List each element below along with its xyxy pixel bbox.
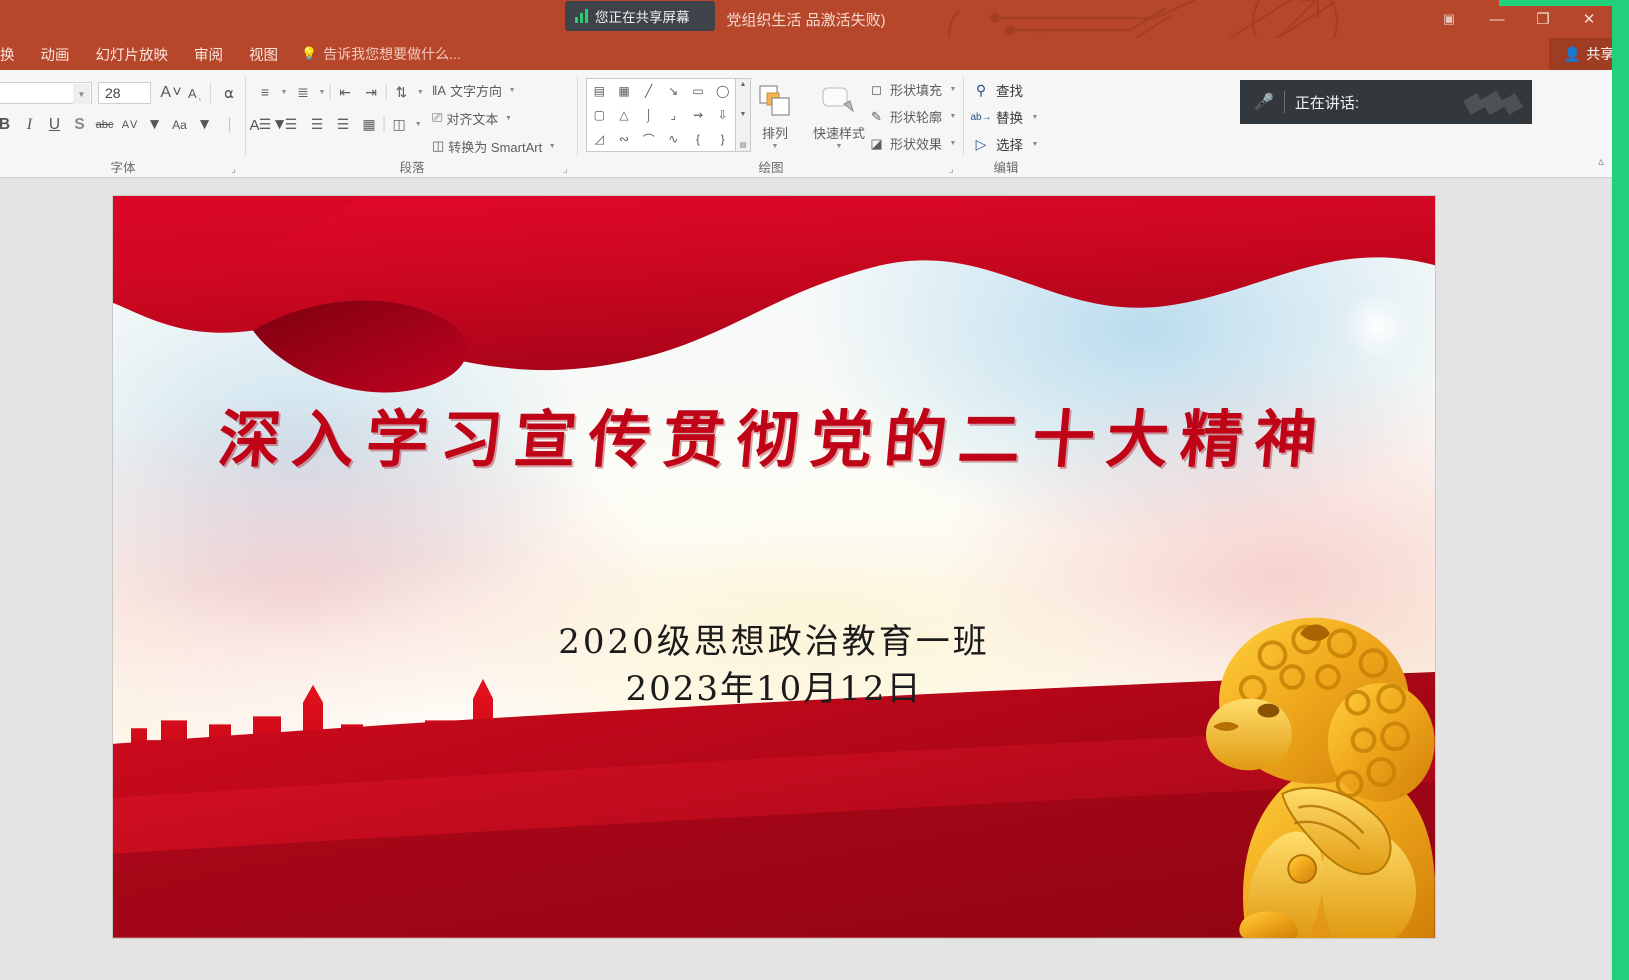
shape-rectangle-icon[interactable]: ▭ <box>686 79 711 103</box>
screen-share-border <box>1612 0 1629 980</box>
scroll-down-icon[interactable]: ▼ <box>740 111 747 118</box>
speaking-decoration <box>1464 88 1524 116</box>
paragraph-dialog-launcher[interactable]: ⌟ <box>563 164 574 175</box>
line-spacing-icon[interactable]: ⇅ <box>388 80 414 104</box>
align-text-label: 对齐文本 <box>446 109 498 128</box>
chevron-down-icon[interactable]: ▼ <box>772 143 779 150</box>
paragraph-row-1: ≡ ▼ ≣ ▼ | ⇤ ⇥ | ⇅ ▼ <box>252 80 426 104</box>
font-dialog-launcher[interactable]: ⌟ <box>231 164 242 175</box>
ribbon-group-editing: ⚲ 查找 ab→ 替换 ▼ ▷ 选择 ▼ 编辑 <box>964 70 1048 178</box>
chevron-down-icon[interactable]: ▼ <box>278 89 290 96</box>
collapse-ribbon-icon[interactable]: ▵ <box>1598 154 1604 168</box>
text-direction-button[interactable]: ‖A 文字方向 ▼ <box>432 78 518 102</box>
arrange-icon <box>758 80 792 122</box>
paragraph-row-2: ☰ ☰ ☰ ☰ ▦ | ◫ ▼ <box>252 112 424 136</box>
title-bar: 党组织生活 品激活失败) 您正在共享屏幕 ▣ — ❐ ✕ <box>0 0 1612 38</box>
shape-left-brace-icon[interactable]: { <box>686 127 711 151</box>
shrink-font-icon[interactable]: A ˌ <box>183 82 207 104</box>
ribbon-group-drawing: ▤ ▦ ╱ ↘ ▭ ◯ ▢ △ ⌡ ⌟ ⇝ ⇩ ◿ ∾ ⌒ ∿ { } ▲ <box>578 70 964 178</box>
shape-arrow-icon[interactable]: ↘ <box>661 79 686 103</box>
shape-freeform-icon[interactable]: ◿ <box>587 127 612 151</box>
character-spacing-button[interactable]: A V <box>117 113 142 137</box>
chevron-down-icon[interactable]: ▼ <box>546 143 558 150</box>
chevron-down-icon[interactable]: ▼ <box>142 113 167 137</box>
columns-icon[interactable]: ◫ <box>386 112 412 136</box>
change-case-button[interactable]: Aa <box>167 113 192 137</box>
tab-transitions[interactable]: 换 <box>0 38 28 70</box>
shape-curve-icon[interactable]: ∿ <box>661 127 686 151</box>
chevron-down-icon[interactable]: ▼ <box>192 113 217 137</box>
text-direction-label: 文字方向 <box>450 81 502 100</box>
select-button[interactable]: ▷ 选择 ▼ <box>972 134 1041 154</box>
chevron-down-icon[interactable]: ▼ <box>506 87 518 94</box>
share-button-label: 共享 <box>1586 44 1614 64</box>
chevron-down-icon[interactable]: ▼ <box>1029 141 1041 148</box>
font-name-input[interactable]: ▼ <box>0 82 92 104</box>
grow-font-icon[interactable]: A ˅ <box>159 82 183 104</box>
decrease-indent-icon[interactable]: ⇤ <box>332 80 358 104</box>
increase-indent-icon[interactable]: ⇥ <box>358 80 384 104</box>
shape-line-icon[interactable]: ╱ <box>636 79 661 103</box>
shape-vertical-textbox-icon[interactable]: ▦ <box>612 79 637 103</box>
shape-fill-button[interactable]: ◻ 形状填充 ▼ <box>868 80 959 99</box>
shapes-gallery[interactable]: ▤ ▦ ╱ ↘ ▭ ◯ ▢ △ ⌡ ⌟ ⇝ ⇩ ◿ ∾ ⌒ ∿ { } <box>586 78 736 152</box>
ribbon-group-drawing-label: 绘图 <box>578 157 964 176</box>
chevron-down-icon[interactable]: ▼ <box>836 143 843 150</box>
shape-triangle-icon[interactable]: △ <box>612 103 637 127</box>
shape-right-brace-icon[interactable]: } <box>710 127 735 151</box>
shape-outline-label: 形状轮廓 <box>890 107 942 126</box>
clear-formatting-icon[interactable]: ⍺ <box>217 82 241 104</box>
shape-rounded-rect-icon[interactable]: ▢ <box>587 103 612 127</box>
quick-styles-button[interactable]: 快速样式 ▼ <box>813 80 865 150</box>
slide-workspace: 深入学习宣传贯彻党的二十大精神 2020级思想政治教育一班 2023年10月12… <box>0 178 1612 980</box>
shape-textbox-icon[interactable]: ▤ <box>587 79 612 103</box>
tab-view[interactable]: 视图 <box>236 38 291 70</box>
replace-label: 替换 <box>996 107 1023 127</box>
font-size-input[interactable]: 28 <box>98 82 151 104</box>
shape-scribble-icon[interactable]: ∾ <box>612 127 637 151</box>
slide-canvas[interactable]: 深入学习宣传贯彻党的二十大精神 2020级思想政治教育一班 2023年10月12… <box>113 196 1435 938</box>
shape-fill-icon: ◻ <box>868 81 885 98</box>
chevron-down-icon[interactable]: ▼ <box>412 121 424 128</box>
screen-share-label: 您正在共享屏幕 <box>595 6 690 26</box>
powerpoint-window: 党组织生活 品激活失败) 您正在共享屏幕 ▣ — ❐ ✕ 换 动画 幻灯片放映 … <box>0 0 1629 980</box>
chevron-down-icon[interactable]: ▼ <box>947 140 959 147</box>
align-center-icon[interactable]: ☰ <box>278 112 304 136</box>
signal-bars-icon <box>575 10 588 23</box>
chevron-down-icon[interactable]: ▼ <box>502 115 514 122</box>
tell-me-search[interactable]: 💡 告诉我您想要做什么... <box>301 44 461 64</box>
arrange-button[interactable]: 排列 ▼ <box>758 80 792 150</box>
align-left-icon[interactable]: ☰ <box>252 112 278 136</box>
tab-animations[interactable]: 动画 <box>28 38 83 70</box>
window-title: 党组织生活 品激活失败) <box>0 0 1612 38</box>
divider <box>210 82 211 104</box>
screen-share-banner: 您正在共享屏幕 <box>565 1 715 31</box>
strikethrough-button[interactable]: abc <box>92 113 117 137</box>
slide-subtitle-text[interactable]: 2020级思想政治教育一班 2023年10月12日 <box>113 619 1435 713</box>
shapes-gallery-scroll[interactable]: ▲ ▼ ▤ <box>736 78 751 152</box>
smartart-icon: ◫ <box>432 138 444 154</box>
more-shapes-icon[interactable]: ▤ <box>740 141 747 149</box>
chevron-down-icon[interactable]: ▼ <box>947 86 959 93</box>
align-text-button[interactable]: ⎚ 对齐文本 ▼ <box>432 106 514 130</box>
find-label: 查找 <box>996 80 1023 100</box>
speaking-overlay: 🎤 正在讲话: <box>1240 80 1532 124</box>
chevron-down-icon[interactable]: ▼ <box>316 89 328 96</box>
align-text-icon: ⎚ <box>432 110 442 126</box>
slide-subtitle-line1: 2020级思想政治教育一班 <box>113 619 1435 666</box>
shape-right-arrow-icon[interactable]: ⇝ <box>686 103 711 127</box>
arrange-label: 排列 <box>762 123 788 142</box>
divider <box>1284 91 1285 113</box>
convert-smartart-label: 转换为 SmartArt <box>448 137 542 156</box>
shape-outline-icon: ✎ <box>868 108 885 125</box>
ribbon-group-font-label: 字体 <box>0 157 246 176</box>
select-label: 选择 <box>996 134 1023 154</box>
tell-me-placeholder: 告诉我您想要做什么... <box>323 44 461 64</box>
shape-effects-label: 形状效果 <box>890 134 942 153</box>
lightbulb-icon: 💡 <box>301 46 317 62</box>
distribute-icon[interactable]: ▦ <box>356 112 382 136</box>
underline-button[interactable]: U <box>42 113 67 137</box>
cursor-select-icon: ▷ <box>972 136 990 153</box>
ribbon-group-font: ▼ 28 A ˅ A ˌ ⍺ B I U S abc A V ▼ Aa ▼ | … <box>0 70 246 178</box>
person-add-icon: 👤 <box>1564 46 1581 63</box>
italic-button[interactable]: I <box>17 113 42 137</box>
chevron-down-icon[interactable]: ▼ <box>414 89 426 96</box>
replace-icon: ab→ <box>972 112 990 123</box>
shape-down-arrow-icon[interactable]: ⇩ <box>710 103 735 127</box>
shape-elbow-connector-icon[interactable]: ⌡ <box>636 103 661 127</box>
quick-styles-icon <box>820 80 858 122</box>
justify-icon[interactable]: ☰ <box>330 112 356 136</box>
slide-subtitle-line2: 2023年10月12日 <box>113 666 1435 713</box>
search-icon: ⚲ <box>972 82 990 99</box>
speaking-label: 正在讲话: <box>1295 92 1359 113</box>
shape-effects-button[interactable]: ◪ 形状效果 ▼ <box>868 134 959 153</box>
numbering-icon[interactable]: ≣ <box>290 80 316 104</box>
shape-elbow-arrow-icon[interactable]: ⌟ <box>661 103 686 127</box>
shape-fill-label: 形状填充 <box>890 80 942 99</box>
replace-button[interactable]: ab→ 替换 ▼ <box>972 107 1041 127</box>
tab-slideshow[interactable]: 幻灯片放映 <box>83 38 182 70</box>
shape-outline-button[interactable]: ✎ 形状轮廓 ▼ <box>868 107 959 126</box>
text-shadow-button[interactable]: S <box>67 113 92 137</box>
ribbon-group-paragraph-label: 段落 <box>246 157 578 176</box>
drawing-dialog-launcher[interactable]: ⌟ <box>949 164 960 175</box>
chevron-down-icon[interactable]: ▼ <box>73 84 90 104</box>
ribbon-group-paragraph: ≡ ▼ ≣ ▼ | ⇤ ⇥ | ⇅ ▼ ☰ ☰ ☰ ☰ ▦ | ◫ ▼ <box>246 70 578 178</box>
chevron-down-icon[interactable]: ▼ <box>947 113 959 120</box>
align-right-icon[interactable]: ☰ <box>304 112 330 136</box>
scroll-up-icon[interactable]: ▲ <box>740 81 747 88</box>
chevron-down-icon[interactable]: ▼ <box>1029 114 1041 121</box>
find-button[interactable]: ⚲ 查找 <box>972 80 1023 100</box>
microphone-icon: 🎤 <box>1254 92 1274 112</box>
screen-share-border-top <box>1499 0 1629 6</box>
ribbon-group-editing-label: 编辑 <box>964 157 1048 176</box>
shape-arc-icon[interactable]: ⌒ <box>636 127 661 151</box>
ribbon-display-options-icon[interactable]: ▣ <box>1438 9 1460 29</box>
ribbon-tabs: 换 动画 幻灯片放映 审阅 视图 💡 告诉我您想要做什么... <box>0 38 1612 70</box>
slide-title-text[interactable]: 深入学习宣传贯彻党的二十大精神 <box>113 389 1435 479</box>
quick-styles-label: 快速样式 <box>813 123 865 142</box>
bullets-icon[interactable]: ≡ <box>252 80 278 104</box>
convert-smartart-button[interactable]: ◫ 转换为 SmartArt ▼ <box>432 134 558 158</box>
tab-review[interactable]: 审阅 <box>181 38 236 70</box>
shape-oval-icon[interactable]: ◯ <box>710 79 735 103</box>
bold-button[interactable]: B <box>0 113 17 137</box>
shape-effects-icon: ◪ <box>868 135 885 152</box>
text-direction-icon: ‖A <box>432 83 446 98</box>
